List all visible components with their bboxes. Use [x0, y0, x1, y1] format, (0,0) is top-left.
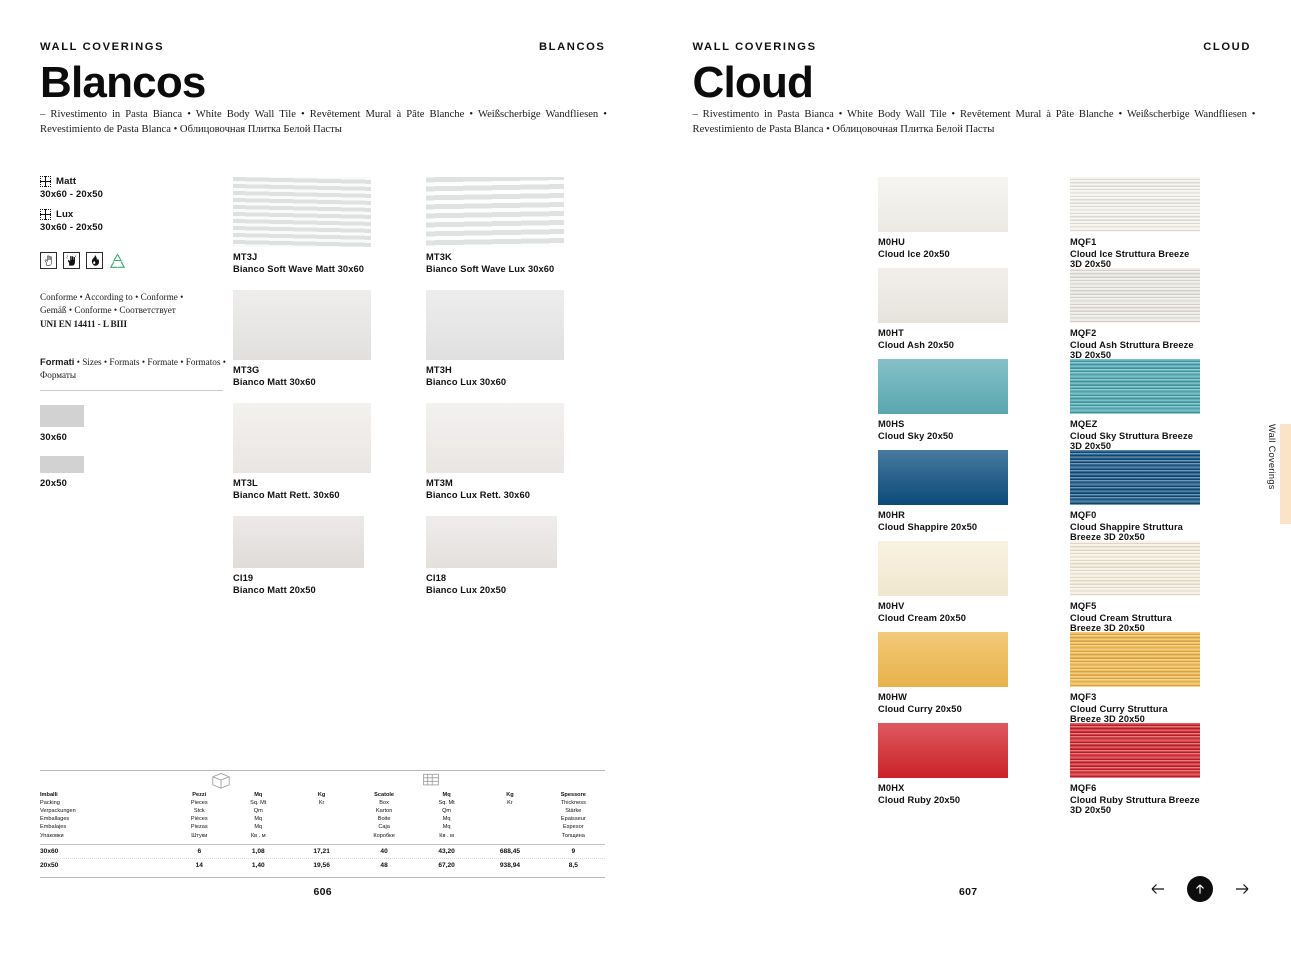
running-head-right: WALL COVERINGS CLOUD	[693, 41, 1252, 53]
packing-column-label: Mq	[227, 823, 290, 831]
packing-row-format: 20x50	[40, 862, 172, 869]
tile-texture	[426, 290, 564, 360]
tile-item[interactable]: M0HTCloud Ash 20x50	[878, 268, 1008, 350]
tile-code: M0HV	[878, 601, 1008, 611]
tile-name: Cloud Cream 20x50	[878, 613, 1008, 623]
tile-code: MQF2	[1070, 328, 1200, 338]
packing-column-label: Mq	[415, 815, 478, 823]
tile-item[interactable]: MT3KBianco Soft Wave Lux 30x60	[426, 177, 564, 274]
tile-name: Bianco Matt 20x50	[233, 585, 364, 595]
running-head-left: WALL COVERINGS BLANCOS	[40, 41, 606, 53]
tile-texture	[878, 359, 1008, 414]
page-title: Blancos	[40, 60, 206, 106]
tile-item[interactable]: CI18Bianco Lux 20x50	[426, 516, 557, 595]
packing-column-label: Caja	[353, 823, 415, 831]
packing-column-label	[290, 807, 353, 815]
packing-column-label	[478, 832, 541, 840]
tile-item[interactable]: M0HUCloud Ice 20x50	[878, 177, 1008, 259]
tile-item[interactable]: MQF0Cloud Shappire Struttura Breeze 3D 2…	[1070, 450, 1200, 542]
packing-table-row: 20x50141,4019,564867,20938,948,5	[40, 859, 605, 873]
tile-swatch-image[interactable]	[426, 177, 564, 247]
tile-item[interactable]: MQF6Cloud Ruby Struttura Breeze 3D 20x50	[1070, 723, 1200, 815]
packing-column-label: Kg	[478, 791, 541, 799]
packing-cell: 6	[172, 848, 227, 855]
tile-texture	[233, 516, 364, 568]
packing-column-header: PezziPiecesStckPiècesPiezasШтуки	[172, 791, 227, 840]
packing-column-label: Stck	[172, 807, 227, 815]
scroll-to-top-button[interactable]	[1187, 876, 1213, 902]
packing-column-label: Boite	[353, 815, 415, 823]
packing-column-label: Qm	[227, 807, 290, 815]
packing-cell: 48	[353, 862, 415, 869]
packing-header-icons	[40, 771, 605, 791]
tile-swatch-image[interactable]	[1070, 177, 1200, 232]
tile-item[interactable]: M0HWCloud Curry 20x50	[878, 632, 1008, 714]
packing-cell: 14	[172, 862, 227, 869]
format-swatch-label: 20x50	[40, 477, 226, 488]
packing-column-label: Mq	[227, 815, 290, 823]
tile-item[interactable]: MT3JBianco Soft Wave Matt 30x60	[233, 177, 371, 274]
tile-name: Bianco Matt 30x60	[233, 377, 371, 387]
format-swatch: 30x60	[40, 405, 226, 442]
tile-code: M0HW	[878, 692, 1008, 702]
catalog-spread: WALL COVERINGS BLANCOS Blancos – Rivesti…	[0, 0, 1291, 920]
tile-item[interactable]: MT3MBianco Lux Rett. 30x60	[426, 403, 564, 500]
packing-label-de: Verpackungen	[40, 807, 172, 815]
packing-cell: 1,08	[227, 848, 290, 855]
tile-name: Cloud Shappire Struttura Breeze 3D 20x50	[1070, 522, 1200, 542]
packing-table-body: 30x6061,0817,214043,20688,45920x50141,40…	[40, 844, 605, 873]
packing-cell: 1,40	[227, 862, 290, 869]
tile-name: Bianco Soft Wave Lux 30x60	[426, 264, 564, 274]
tile-texture	[233, 177, 371, 247]
tile-item[interactable]: MT3GBianco Matt 30x60	[233, 290, 371, 387]
packing-cell: 17,21	[290, 848, 353, 855]
finish-list: Matt30x60 - 20x50Lux30x60 - 20x50	[40, 176, 226, 232]
tile-name: Cloud Ice 20x50	[878, 249, 1008, 259]
packing-column-label: Sq. Mt	[227, 799, 290, 807]
packing-column-label: Scatole	[353, 791, 415, 799]
folio-left: 606	[0, 886, 646, 898]
tile-item[interactable]: MQF3Cloud Curry Struttura Breeze 3D 20x5…	[1070, 632, 1200, 724]
tile-name: Cloud Ruby 20x50	[878, 795, 1008, 805]
packing-row-header: ImballiPackingVerpackungenEmballagesEmba…	[40, 791, 172, 840]
tile-code: MQF1	[1070, 237, 1200, 247]
tile-texture	[233, 403, 371, 473]
tile-code: MQF5	[1070, 601, 1200, 611]
packing-label-it: Imballi	[40, 791, 172, 799]
format-swatch-label: 30x60	[40, 431, 226, 442]
tile-item[interactable]: MQF5Cloud Cream Struttura Breeze 3D 20x5…	[1070, 541, 1200, 633]
packing-table: ImballiPackingVerpackungenEmballagesEmba…	[40, 770, 605, 878]
packing-column-label	[478, 823, 541, 831]
tile-swatch-image[interactable]	[233, 177, 371, 247]
format-swatch-box	[40, 405, 84, 427]
formats-heading-bold: Formati	[40, 356, 74, 367]
right-page: WALL COVERINGS CLOUD Cloud – Rivestiment…	[646, 0, 1291, 920]
packing-column-label: Thickness	[542, 799, 605, 807]
packing-column-label: Коробке	[353, 832, 415, 840]
tile-code: M0HR	[878, 510, 1008, 520]
tile-texture	[1070, 541, 1200, 596]
packing-column-label: Karton	[353, 807, 415, 815]
tile-swatch-image[interactable]	[233, 290, 371, 360]
recycling-triangle-icon	[109, 252, 126, 269]
packing-label-en: Packing	[40, 799, 172, 807]
packing-column-header: KgKr	[478, 791, 541, 840]
page-subtitle: – Rivestimento in Pasta Bianca • White B…	[693, 108, 1256, 137]
finish-sizes: 30x60 - 20x50	[40, 221, 226, 232]
tile-name: Cloud Curry 20x50	[878, 704, 1008, 714]
packing-cell: 9	[542, 848, 605, 855]
tile-swatch-image[interactable]	[1070, 541, 1200, 596]
packing-cell: 8,5	[542, 862, 605, 869]
tile-code: MT3J	[233, 252, 371, 262]
tile-swatch-image[interactable]	[1070, 268, 1200, 323]
packing-column-label: Кв . м	[415, 832, 478, 840]
tile-swatch-image[interactable]	[878, 359, 1008, 414]
running-head-series: BLANCOS	[539, 41, 606, 53]
page-subtitle: – Rivestimento in Pasta Bianca • White B…	[40, 108, 607, 137]
packing-cell: 67,20	[415, 862, 478, 869]
tile-texture	[878, 723, 1008, 778]
page-navigation	[1149, 876, 1251, 902]
tile-name: Cloud Ash 20x50	[878, 340, 1008, 350]
conformity-block: Conforme • According to • Conforme • Gem…	[40, 291, 226, 331]
tile-swatch-image[interactable]	[426, 290, 564, 360]
tile-texture	[1070, 177, 1200, 232]
hand-dark-impact-icon	[63, 252, 80, 269]
tile-swatch-image[interactable]	[233, 403, 371, 473]
running-head-section: WALL COVERINGS	[693, 41, 817, 53]
tile-texture	[878, 268, 1008, 323]
finish-block: Lux30x60 - 20x50	[40, 209, 226, 232]
format-swatch-box	[40, 456, 84, 473]
tile-item[interactable]: MQF1Cloud Ice Struttura Breeze 3D 20x50	[1070, 177, 1200, 269]
packing-column-label: Kg	[290, 791, 353, 799]
tile-texture	[878, 541, 1008, 596]
packing-column-label: Кв . м	[227, 832, 290, 840]
tile-item[interactable]: M0HVCloud Cream 20x50	[878, 541, 1008, 623]
tile-item[interactable]: MT3LBianco Matt Rett. 30x60	[233, 403, 371, 500]
packing-label-es: Embalajes	[40, 823, 172, 831]
tile-code: CI19	[233, 573, 364, 583]
packing-column-label: Kr	[478, 799, 541, 807]
tile-code: MT3M	[426, 478, 564, 488]
packing-column-header: KgKr	[290, 791, 353, 840]
tile-name: Cloud Ruby Struttura Breeze 3D 20x50	[1070, 795, 1200, 815]
tile-code: CI18	[426, 573, 557, 583]
packing-table-row: 30x6061,0817,214043,20688,459	[40, 845, 605, 859]
tile-item[interactable]: MQEZCloud Sky Struttura Breeze 3D 20x50	[1070, 359, 1200, 451]
tile-texture	[233, 290, 371, 360]
tile-item[interactable]: M0HSCloud Sky 20x50	[878, 359, 1008, 441]
packing-column-label: Epaisseur	[542, 815, 605, 823]
packing-column-label: Pièces	[172, 815, 227, 823]
previous-page-arrow-icon[interactable]	[1149, 880, 1167, 898]
tile-swatch-image[interactable]	[426, 403, 564, 473]
tile-code: M0HT	[878, 328, 1008, 338]
packing-cell: 19,56	[290, 862, 353, 869]
packing-column-label: Box	[353, 799, 415, 807]
tile-texture	[1070, 359, 1200, 414]
packing-column-label: Spessore	[542, 791, 605, 799]
section-tab-label: Wall Coverings	[1267, 424, 1277, 524]
packing-column-label: Kr	[290, 799, 353, 807]
finish-name: Lux	[56, 209, 73, 220]
tile-swatch-image[interactable]	[878, 541, 1008, 596]
tile-name: Bianco Lux 30x60	[426, 377, 564, 387]
tile-name: Cloud Ice Struttura Breeze 3D 20x50	[1070, 249, 1200, 269]
packing-column-header: MqSq. MtQmMqMqКв . м	[227, 791, 290, 840]
running-head-series: CLOUD	[1203, 41, 1251, 53]
flame-fire-icon	[86, 252, 103, 269]
pallet-icon	[420, 771, 442, 794]
tile-code: MT3G	[233, 365, 371, 375]
packing-column-label: Piezas	[172, 823, 227, 831]
packing-column-label: Штуки	[172, 832, 227, 840]
format-crosshair-icon	[40, 176, 51, 187]
tile-swatch-image[interactable]	[1070, 632, 1200, 687]
tile-texture	[878, 450, 1008, 505]
tile-grid-left: MT3JBianco Soft Wave Matt 30x60MT3KBianc…	[233, 177, 633, 617]
packing-column-label: Mq	[415, 823, 478, 831]
tile-texture	[878, 632, 1008, 687]
tile-code: MT3H	[426, 365, 564, 375]
tile-swatch-image[interactable]	[878, 177, 1008, 232]
formats-heading: Formati • Sizes • Formats • Formate • Fo…	[40, 355, 226, 383]
packing-cell: 688,45	[478, 848, 541, 855]
page-title: Cloud	[693, 60, 814, 106]
tile-code: MT3L	[233, 478, 371, 488]
tile-swatch-image[interactable]	[878, 723, 1008, 778]
tile-name: Cloud Sky Struttura Breeze 3D 20x50	[1070, 431, 1200, 451]
packing-column-header: MqSq. MtQmMqMqКв . м	[415, 791, 478, 840]
tile-name: Cloud Ash Struttura Breeze 3D 20x50	[1070, 340, 1200, 360]
tile-code: M0HS	[878, 419, 1008, 429]
tile-code: MQF0	[1070, 510, 1200, 520]
pictogram-row	[40, 252, 226, 269]
tile-swatch-image[interactable]	[878, 632, 1008, 687]
tile-texture	[1070, 450, 1200, 505]
tile-item[interactable]: MT3HBianco Lux 30x60	[426, 290, 564, 387]
packing-label-ru: Упаковки	[40, 832, 172, 840]
running-head-section: WALL COVERINGS	[40, 41, 164, 53]
tile-grid-right: M0HUCloud Ice 20x50MQF1Cloud Ice Struttu…	[878, 177, 1278, 957]
tile-texture	[426, 516, 557, 568]
packing-cell: 40	[353, 848, 415, 855]
packing-label-fr: Emballages	[40, 815, 172, 823]
tile-texture	[426, 403, 564, 473]
next-page-arrow-icon[interactable]	[1233, 880, 1251, 898]
tile-name: Cloud Cream Struttura Breeze 3D 20x50	[1070, 613, 1200, 633]
format-swatch: 20x50	[40, 456, 226, 488]
tile-name: Cloud Shappire 20x50	[878, 522, 1008, 532]
conformity-line-2: Gemäß • Conforme • Соответствует	[40, 304, 226, 317]
tile-item[interactable]: M0HXCloud Ruby 20x50	[878, 723, 1008, 805]
tile-texture	[1070, 632, 1200, 687]
tile-item[interactable]: MQF2Cloud Ash Struttura Breeze 3D 20x50	[1070, 268, 1200, 360]
tile-code: M0HX	[878, 783, 1008, 793]
packing-column-label	[478, 807, 541, 815]
packing-column-header: SpessoreThicknessStärkeEpaisseurEspesorТ…	[542, 791, 605, 840]
packing-column-label: Stärke	[542, 807, 605, 815]
finish-sizes: 30x60 - 20x50	[40, 188, 226, 199]
tile-swatch-image[interactable]	[233, 516, 364, 568]
hand-light-abrasion-icon	[40, 252, 57, 269]
packing-column-label	[290, 815, 353, 823]
packing-column-header: ScatoleBoxKartonBoiteCajaКоробке	[353, 791, 415, 840]
left-page: WALL COVERINGS BLANCOS Blancos – Rivesti…	[0, 0, 646, 920]
packing-cell: 43,20	[415, 848, 478, 855]
packing-column-label	[290, 823, 353, 831]
packing-cell: 938,94	[478, 862, 541, 869]
tile-texture	[1070, 268, 1200, 323]
packing-table-header: ImballiPackingVerpackungenEmballagesEmba…	[40, 771, 605, 840]
packing-column-label: Pieces	[172, 799, 227, 807]
format-crosshair-icon	[40, 209, 51, 220]
box-icon	[210, 771, 232, 794]
tile-code: MQF3	[1070, 692, 1200, 702]
formats-divider	[40, 390, 223, 391]
spec-column-left: Matt30x60 - 20x50Lux30x60 - 20x50 Confor…	[40, 176, 226, 488]
packing-column-label: Espesor	[542, 823, 605, 831]
packing-column-label: Толщина	[542, 832, 605, 840]
tile-swatch-image[interactable]	[1070, 359, 1200, 414]
tile-name: Cloud Sky 20x50	[878, 431, 1008, 441]
tile-code: MQEZ	[1070, 419, 1200, 429]
packing-column-label	[290, 832, 353, 840]
tile-name: Cloud Curry Struttura Breeze 3D 20x50	[1070, 704, 1200, 724]
tile-code: M0HU	[878, 237, 1008, 247]
tile-swatch-image[interactable]	[426, 516, 557, 568]
finish-name: Matt	[56, 176, 76, 187]
tile-swatch-image[interactable]	[1070, 723, 1200, 778]
tile-name: Bianco Matt Rett. 30x60	[233, 490, 371, 500]
conformity-line-1: Conforme • According to • Conforme •	[40, 291, 226, 304]
packing-row-format: 30x60	[40, 848, 172, 855]
tile-swatch-image[interactable]	[878, 268, 1008, 323]
finish-block: Matt30x60 - 20x50	[40, 176, 226, 199]
conformity-norm: UNI EN 14411 - L BIII	[40, 318, 226, 331]
tile-name: Bianco Soft Wave Matt 30x60	[233, 264, 371, 274]
tile-name: Bianco Lux Rett. 30x60	[426, 490, 564, 500]
packing-column-label: Mq	[227, 791, 290, 799]
tile-code: MQF6	[1070, 783, 1200, 793]
tile-swatch-image[interactable]	[878, 450, 1008, 505]
format-swatch-list: 30x6020x50	[40, 405, 226, 488]
tile-texture	[878, 177, 1008, 232]
tile-texture	[1070, 723, 1200, 778]
tile-swatch-image[interactable]	[1070, 450, 1200, 505]
tile-item[interactable]: CI19Bianco Matt 20x50	[233, 516, 364, 595]
packing-column-label: Qm	[415, 807, 478, 815]
packing-column-label	[478, 815, 541, 823]
tile-texture	[426, 177, 564, 247]
section-tab[interactable]	[1280, 424, 1291, 524]
tile-item[interactable]: M0HRCloud Shappire 20x50	[878, 450, 1008, 532]
packing-column-label: Sq. Mt	[415, 799, 478, 807]
tile-code: MT3K	[426, 252, 564, 262]
tile-name: Bianco Lux 20x50	[426, 585, 557, 595]
